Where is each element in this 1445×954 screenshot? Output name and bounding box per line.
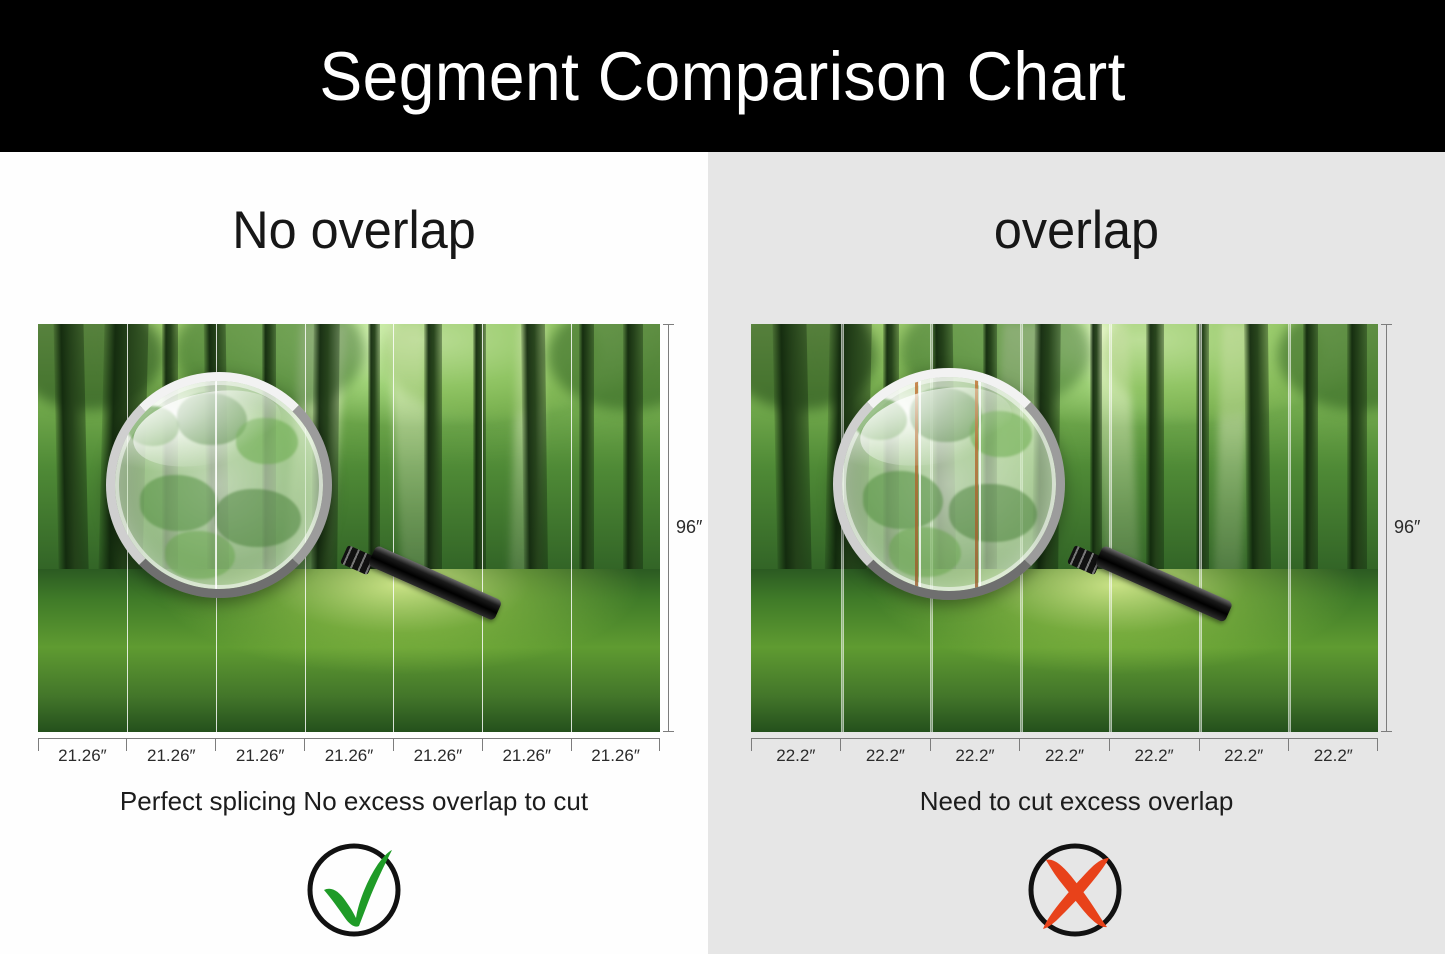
segment-label: 22.2″: [930, 746, 1020, 766]
segment-dimension-line: [38, 738, 660, 739]
segment-label: 21.26″: [305, 746, 394, 766]
figure-overlap: 96″ 22.2″ 22.2″ 22.2″ 22.2″ 22.2″ 22.2″ …: [751, 324, 1378, 732]
segment-label: 22.2″: [751, 746, 841, 766]
panel-seam-overlap: [930, 324, 933, 732]
height-dimension-line: [1386, 324, 1387, 732]
height-label-no-overlap: 96″: [676, 517, 702, 538]
height-dimension-cap-top: [1381, 324, 1392, 325]
red-cross-icon: [1023, 834, 1131, 942]
panel-no-overlap: No overlap: [0, 152, 708, 954]
panel-heading-overlap: overlap: [726, 204, 1426, 257]
segment-label: 22.2″: [1199, 746, 1289, 766]
segment-comparison-chart: Segment Comparison Chart No overlap: [0, 0, 1445, 954]
caption-overlap: Need to cut excess overlap: [708, 788, 1445, 814]
height-label-overlap: 96″: [1394, 517, 1420, 538]
panel-seam-overlap: [1020, 324, 1023, 732]
panel-seam-overlap: [1288, 324, 1291, 732]
segment-label: 22.2″: [1288, 746, 1378, 766]
verdict-no-overlap: [0, 834, 708, 942]
height-dimension-cap-top: [663, 324, 674, 325]
panel-seam-overlap: [1109, 324, 1112, 732]
figure-no-overlap: 96″ 21.26″ 21.26″ 21.26″ 21.26″ 21.26″ 2…: [38, 324, 660, 732]
forest-floor: [38, 569, 660, 732]
page-title: Segment Comparison Chart: [319, 42, 1126, 111]
panel-seam: [216, 324, 217, 732]
segment-label: 21.26″: [393, 746, 482, 766]
forest-floor: [751, 569, 1378, 732]
forest-photo-overlap: [751, 324, 1378, 732]
panel-seam: [393, 324, 394, 732]
segment-label: 22.2″: [1020, 746, 1110, 766]
segment-label: 21.26″: [482, 746, 571, 766]
segment-label: 21.26″: [38, 746, 127, 766]
height-dimension-line: [668, 324, 669, 732]
green-check-icon: [300, 834, 408, 942]
height-dimension-cap-bottom: [1381, 731, 1392, 732]
title-bar: Segment Comparison Chart: [0, 0, 1445, 152]
segment-labels-no-overlap: 21.26″ 21.26″ 21.26″ 21.26″ 21.26″ 21.26…: [38, 746, 660, 766]
segment-label: 21.26″: [216, 746, 305, 766]
caption-no-overlap: Perfect splicing No excess overlap to cu…: [0, 788, 708, 814]
panel-seam-overlap: [1199, 324, 1202, 732]
segment-label: 22.2″: [1109, 746, 1199, 766]
panel-seam: [127, 324, 128, 732]
panel-seam: [482, 324, 483, 732]
segment-label: 21.26″: [571, 746, 660, 766]
panel-seam: [571, 324, 572, 732]
segment-label: 21.26″: [127, 746, 216, 766]
panel-seam-overlap: [841, 324, 844, 732]
verdict-overlap: [708, 834, 1445, 942]
panel-heading-no-overlap: No overlap: [18, 204, 691, 257]
segment-label: 22.2″: [841, 746, 931, 766]
segment-labels-overlap: 22.2″ 22.2″ 22.2″ 22.2″ 22.2″ 22.2″ 22.2…: [751, 746, 1378, 766]
panel-overlap: overlap: [708, 152, 1445, 954]
panel-seam: [305, 324, 306, 732]
height-dimension-cap-bottom: [663, 731, 674, 732]
forest-photo-no-overlap: [38, 324, 660, 732]
segment-dimension-line: [751, 738, 1378, 739]
